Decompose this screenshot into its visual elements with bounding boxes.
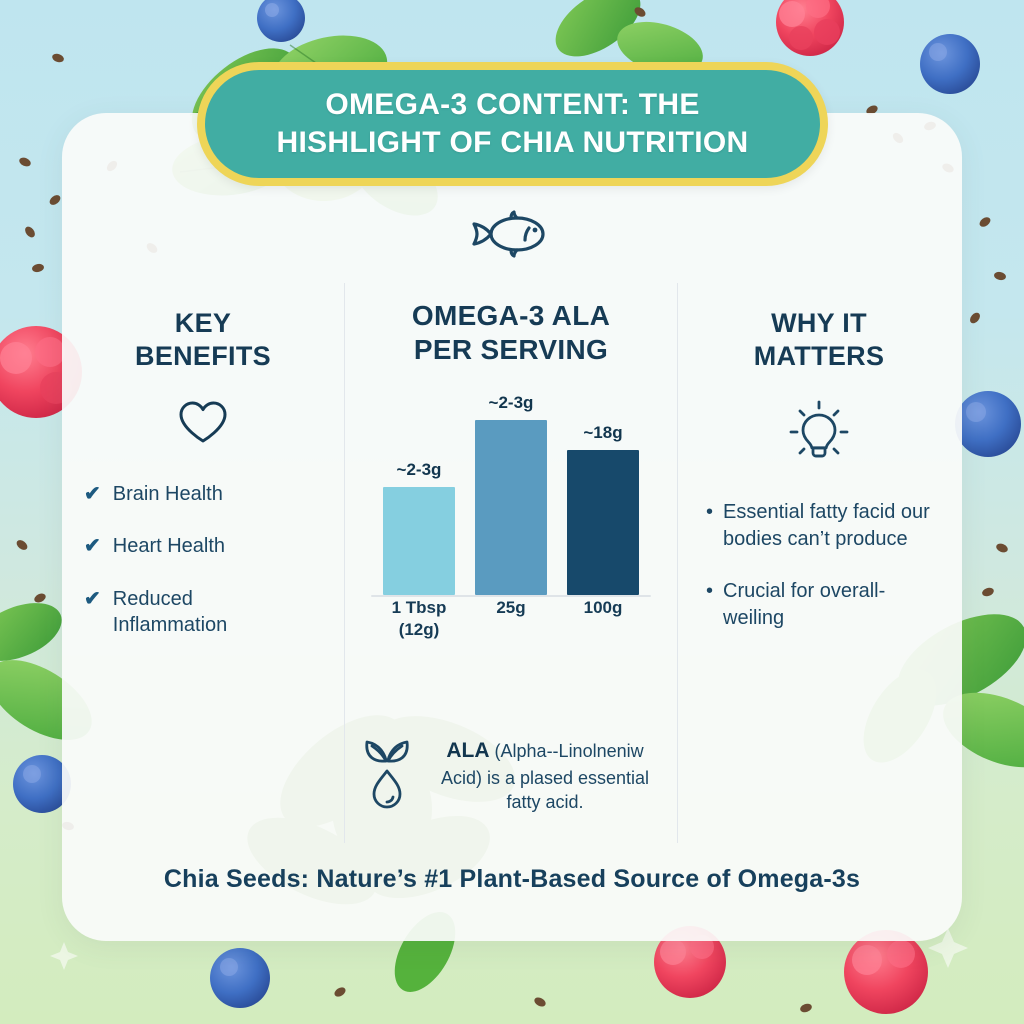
fish-icon-container: [62, 209, 962, 259]
list-item: ✔ Heart Health: [84, 533, 304, 559]
why-it-matters-title-line1: WHY IT: [771, 308, 867, 338]
list-item: • Essential fatty facid our bodies can’t…: [706, 499, 934, 553]
raspberry-bottom-right: [844, 930, 928, 1014]
heart-icon-container: [62, 399, 344, 445]
check-icon: ✔: [84, 586, 101, 612]
check-icon: ✔: [84, 481, 101, 507]
page-title: OMEGA-3 CONTENT: THE HISHLIGHT OF CHIA N…: [253, 86, 773, 163]
chart-x-tick-labels: 1 Tbsp (12g) 25g 100g: [373, 597, 649, 645]
benefit-label: Brain Health: [113, 481, 223, 507]
key-benefits-title-line1: KEY: [175, 308, 231, 338]
bar-value-label-2: ~18g: [583, 423, 622, 443]
ala-abbreviation: ALA: [446, 739, 489, 762]
why-label: Crucial for overall-weiling: [723, 578, 934, 632]
raspberry-top-right: [776, 0, 844, 56]
infographic-canvas: KEY BENEFITS ✔ Brain Health ✔ Heart: [0, 0, 1024, 1024]
x-tick-label-2: 100g: [567, 597, 639, 645]
chart-title-line1: OMEGA-3 ALA: [412, 300, 610, 331]
why-label: Essential fatty facid our bodies can’t p…: [723, 499, 934, 553]
bar-slot-1: ~2-3g: [475, 393, 547, 595]
heart-icon: [177, 399, 229, 445]
benefit-label: Heart Health: [113, 533, 225, 559]
blueberry-top-right: [920, 34, 980, 94]
list-item: ✔ Reduced Inflammation: [84, 586, 304, 639]
content-card: KEY BENEFITS ✔ Brain Health ✔ Heart: [62, 113, 962, 941]
lightbulb-icon-container: [678, 399, 960, 465]
key-benefits-title-line2: BENEFITS: [135, 341, 271, 371]
bar-1: [475, 420, 547, 595]
benefit-label: Reduced Inflammation: [113, 586, 304, 639]
blueberry-right-mid: [955, 391, 1021, 457]
columns-container: KEY BENEFITS ✔ Brain Health ✔ Heart: [62, 283, 962, 843]
blueberry-top-left: [257, 0, 305, 42]
ala-note-text: ALA (Alpha--Linolneniw Acid) is a plased…: [427, 735, 663, 814]
x-tick-label-0: 1 Tbsp (12g): [383, 597, 455, 645]
bar-slot-0: ~2-3g: [383, 393, 455, 595]
sprout-droplet-icon: [359, 735, 415, 811]
x-tick-0-line1: 1 Tbsp: [392, 598, 447, 617]
column-key-benefits: KEY BENEFITS ✔ Brain Health ✔ Heart: [62, 283, 344, 843]
lightbulb-icon: [788, 399, 850, 465]
x-tick-label-1: 25g: [475, 597, 547, 645]
list-item: ✔ Brain Health: [84, 481, 304, 507]
key-benefits-list: ✔ Brain Health ✔ Heart Health ✔ Reduced …: [84, 481, 344, 639]
footer-tagline: Chia Seeds: Nature’s #1 Plant-Based Sour…: [62, 865, 962, 894]
bullet-icon: •: [706, 578, 713, 604]
bullet-icon: •: [706, 499, 713, 525]
page-title-line1: OMEGA-3 CONTENT: THE: [325, 88, 699, 121]
chart-title-line2: PER SERVING: [414, 334, 608, 365]
chart-plot-area: ~2-3g ~2-3g ~18g: [373, 393, 649, 595]
ala-definition-note: ALA (Alpha--Linolneniw Acid) is a plased…: [359, 735, 663, 814]
why-it-matters-title-line2: MATTERS: [754, 341, 885, 371]
column-why-it-matters: WHY IT MATTERS •: [678, 283, 960, 843]
why-it-matters-list: • Essential fatty facid our bodies can’t…: [678, 499, 960, 632]
key-benefits-title: KEY BENEFITS: [62, 307, 344, 373]
check-icon: ✔: [84, 533, 101, 559]
bar-2: [567, 450, 639, 595]
list-item: • Crucial for overall-weiling: [706, 578, 934, 632]
fish-icon: [467, 209, 557, 259]
why-it-matters-title: WHY IT MATTERS: [678, 307, 960, 373]
bar-value-label-0: ~2-3g: [397, 460, 442, 480]
column-omega3-chart: OMEGA-3 ALA PER SERVING ~2-3g ~2-3g: [344, 283, 678, 843]
blueberry-bottom-left2: [210, 948, 270, 1008]
chart-title: OMEGA-3 ALA PER SERVING: [345, 299, 677, 367]
bar-0: [383, 487, 455, 595]
bar-slot-2: ~18g: [567, 393, 639, 595]
x-tick-0-line2: (12g): [399, 620, 440, 639]
omega3-bar-chart: ~2-3g ~2-3g ~18g: [373, 385, 649, 631]
title-banner: OMEGA-3 CONTENT: THE HISHLIGHT OF CHIA N…: [197, 62, 828, 186]
page-title-line2: HISHLIGHT OF CHIA NUTRITION: [277, 126, 749, 159]
bar-value-label-1: ~2-3g: [489, 393, 534, 413]
